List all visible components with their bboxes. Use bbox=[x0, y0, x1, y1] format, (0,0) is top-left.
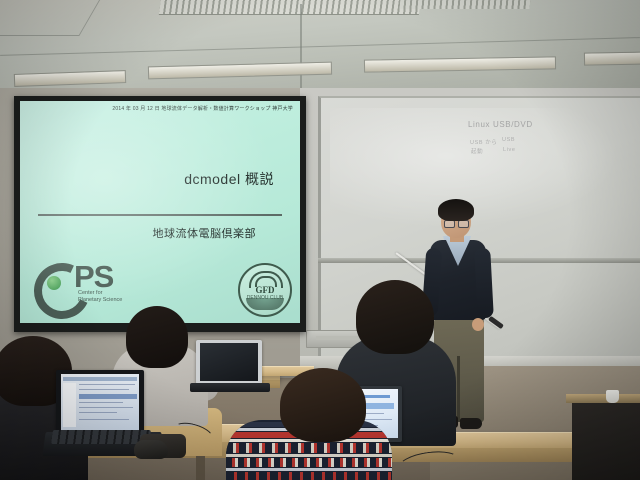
cps-wordmark: PS bbox=[74, 261, 113, 292]
cps-logo: PS Center for Planetary Science bbox=[34, 261, 154, 309]
presenter-hair bbox=[438, 199, 474, 221]
slide-title: dcmodel 概説 bbox=[184, 169, 274, 189]
ceiling-vent-icon bbox=[159, 0, 421, 15]
coffee-cup bbox=[606, 390, 619, 403]
ceiling-seam bbox=[0, 37, 640, 56]
screen-content-line bbox=[79, 402, 123, 403]
screen-content-line bbox=[79, 389, 129, 390]
sweater-band bbox=[226, 468, 392, 471]
screen-content-line bbox=[79, 407, 133, 408]
whiteboard-note: 起動 bbox=[471, 147, 483, 155]
sweater-pattern-band bbox=[226, 458, 392, 467]
whiteboard-note: Live bbox=[503, 147, 516, 153]
side-table bbox=[572, 398, 640, 480]
cps-tagline-line2: Planetary Science bbox=[78, 297, 122, 304]
sweater-band bbox=[226, 454, 392, 457]
gfd-sub-wordmark: DENNOU CLUB bbox=[240, 295, 290, 301]
screen-sidebar bbox=[63, 383, 76, 427]
presenter-trouser-seam bbox=[457, 356, 460, 422]
laptop-base[interactable] bbox=[190, 383, 270, 392]
screen-titlebar bbox=[63, 377, 137, 381]
screen-content-line bbox=[79, 419, 129, 420]
ceiling-seam-vertical bbox=[300, 4, 302, 96]
gfd-dennou-logo: GFD DENNOU CLUB bbox=[238, 263, 292, 317]
attendee-hair bbox=[356, 280, 434, 354]
ceiling-light bbox=[584, 51, 640, 65]
presenter-v-neck bbox=[446, 240, 470, 266]
ceiling-light bbox=[14, 70, 126, 87]
ceiling-vent-secondary-icon bbox=[399, 0, 530, 9]
glasses-lens-left bbox=[444, 220, 455, 228]
slide-divider bbox=[38, 214, 282, 216]
attendee-hair bbox=[280, 368, 366, 442]
ceiling bbox=[0, 0, 640, 96]
sweater-pattern-band bbox=[226, 472, 392, 480]
screen-content-highlight bbox=[79, 394, 137, 399]
whiteboard-note: USB bbox=[502, 137, 515, 143]
gfd-wordmark: GFD bbox=[240, 285, 290, 295]
ceiling-panel bbox=[0, 0, 105, 36]
lecture-room-photo: Linux USB/DVD USB から USB 起動 Live 2014 年 … bbox=[0, 0, 640, 480]
whiteboard-note: USB から bbox=[470, 138, 497, 146]
mouse-device[interactable] bbox=[134, 440, 168, 459]
screen-content-line bbox=[79, 412, 117, 413]
laptop-screen[interactable] bbox=[61, 374, 139, 430]
presenter-hand-right bbox=[472, 318, 484, 331]
cps-planet-icon bbox=[47, 276, 61, 290]
presenter-shoe-right bbox=[460, 418, 482, 429]
laptop-screen[interactable] bbox=[200, 343, 258, 381]
ceiling-light bbox=[364, 56, 556, 72]
desk-leg bbox=[196, 456, 205, 480]
side-table-top bbox=[566, 394, 640, 403]
screen-content-line bbox=[79, 384, 135, 385]
ceiling-light bbox=[148, 62, 332, 80]
projection-screen: 2014 年 03 月 12 日 地球流体データ解析・数値計算ワークショップ 神… bbox=[20, 101, 300, 323]
attendee-hair bbox=[126, 306, 188, 368]
slide-subtitle: 地球流体電脳倶楽部 bbox=[153, 225, 257, 241]
glasses-lens-right bbox=[458, 220, 469, 228]
slide-header-text: 2014 年 03 月 12 日 地球流体データ解析・数値計算ワークショップ 神… bbox=[112, 105, 293, 112]
whiteboard-note: Linux USB/DVD bbox=[468, 120, 533, 129]
sweater-pattern-band bbox=[226, 443, 392, 453]
